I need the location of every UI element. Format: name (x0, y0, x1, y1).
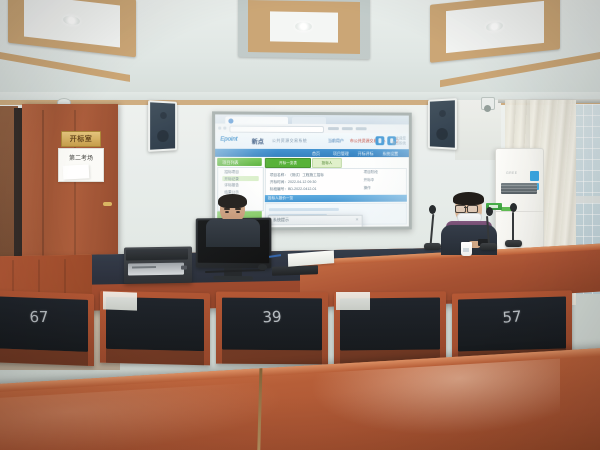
chair-seat-1[interactable]: 67 (0, 290, 94, 366)
sidebar-tree-item-1[interactable]: 开标记录 (224, 177, 239, 182)
printer (124, 246, 192, 283)
chair-number-1: 67 (0, 307, 94, 327)
dialog-title: 系统提示 (273, 218, 289, 224)
tab-bidders[interactable]: 投标人 (312, 158, 342, 168)
operator-brow-left (224, 208, 230, 210)
microphone-base (480, 243, 497, 250)
forward-icon[interactable] (223, 127, 226, 130)
toolbar-item-favorites[interactable] (328, 127, 339, 130)
ceiling-panel-left (8, 0, 136, 57)
wall-speaker-left (148, 100, 177, 152)
microphone-head (429, 205, 436, 214)
nav-item-1[interactable]: 项目管理 (333, 151, 349, 157)
printer-power-button[interactable] (181, 265, 187, 269)
info-dialog[interactable]: 系统提示 ✕ 解密成功！ 确定 (268, 215, 363, 228)
sidebar-header-label: 项目列表 (222, 159, 238, 165)
right-row-1: 开标中 (364, 178, 375, 183)
chair-shadow (0, 348, 88, 366)
door-handle[interactable] (103, 202, 112, 206)
dialog-titlebar: 系统提示 ✕ (269, 216, 362, 225)
section-bar-title: 投标人报价一览 (268, 196, 293, 201)
detail-row-2: 标段编号：BD-2022-0412-01 (270, 187, 317, 192)
ceiling-panel-center (238, 0, 370, 59)
list-item (269, 208, 339, 211)
browser-tab-2[interactable] (292, 116, 326, 123)
chair-shadow (222, 350, 322, 365)
ceiling-trim-left (0, 52, 130, 82)
ac-vent (501, 183, 537, 194)
paper-cup (461, 242, 472, 256)
door-plaque-text: 开标室 (70, 134, 93, 144)
speaker-tweeter-icon (439, 110, 446, 117)
content-tab-strip: 开标一览表 投标人 (265, 158, 365, 166)
operator-eye-left (225, 211, 229, 213)
ac-display-badge (530, 171, 539, 181)
toolbar-item-help[interactable] (356, 127, 367, 130)
ceiling (0, 0, 600, 104)
door-plaque: 开标室 (61, 131, 101, 147)
app-logo-subtitle: 公共资源交易系统 (272, 138, 307, 144)
tab-overview[interactable]: 开标一览表 (265, 158, 311, 168)
header-tag: 当前用户 (328, 138, 344, 144)
chair-shadow (106, 349, 204, 365)
meeting-room-photo: 开标室 第二考场 (0, 0, 600, 450)
app-logo-cn: 新点 (252, 137, 264, 146)
security-camera-icon (481, 97, 495, 110)
printer-lid (126, 248, 188, 260)
attendee-hair (453, 192, 484, 205)
chair-gap-light-2 (336, 292, 370, 310)
operator-eye-right (236, 211, 240, 213)
paper-sign-text: 第二考场 (59, 153, 103, 162)
nav-item-2[interactable]: 开标评标 (358, 151, 374, 157)
glasses-icon-right (467, 205, 478, 213)
wall-speaker-right (428, 98, 457, 150)
operator-torso (206, 219, 260, 247)
operator-brow-right (235, 208, 241, 210)
close-icon[interactable]: ✕ (355, 217, 358, 222)
detail-row-1: 开标时间：2022-04-12 09:30 (270, 180, 316, 185)
speaker-tweeter-icon (160, 112, 167, 119)
app-logo-text: Epoint (220, 137, 237, 143)
microphone-stem (512, 212, 514, 241)
printer-paper-tray (128, 263, 184, 276)
speaker-cone-icon (157, 130, 169, 142)
ceiling-panel-right (430, 0, 560, 63)
glasses-bridge (464, 207, 468, 208)
sidebar-tree-item-2[interactable]: 评标报告 (224, 183, 239, 188)
toolbar-item-tools[interactable] (342, 127, 353, 130)
paper-curl (63, 164, 90, 179)
right-row-2[interactable]: 操作 (364, 186, 371, 191)
operator-hair (218, 194, 247, 208)
right-column: 项目阶段 开标中 操作 (364, 168, 407, 198)
user-icon[interactable] (375, 136, 384, 145)
desk-highlight-right (310, 359, 560, 444)
ac-seam (496, 211, 543, 212)
detail-row-0: 项目名称：（测试）工程施工招标 (270, 173, 324, 178)
nav-item-0[interactable]: 首页 (312, 151, 320, 157)
nav-item-3[interactable]: 系统设置 (382, 151, 398, 157)
back-icon[interactable] (218, 127, 221, 130)
desk-highlight-left (0, 381, 280, 450)
microphone-head (510, 203, 517, 212)
app-nav-bar: 首页 项目管理 开标评标 系统设置 (215, 149, 409, 157)
microphone-head (486, 207, 493, 216)
right-row-0: 项目阶段 (364, 170, 378, 175)
paper-sign: 第二考场 (58, 148, 104, 182)
microphone-base (424, 243, 441, 250)
microphone-base (505, 240, 522, 247)
sidebar-header: 项目列表 (217, 158, 262, 166)
header-user-block[interactable]: 欢迎您 退出系统 (392, 136, 406, 146)
monitor-base (213, 276, 253, 281)
browser-tab-active[interactable] (225, 116, 288, 123)
chair-seat-3[interactable]: 39 (216, 292, 328, 365)
header-logout[interactable]: 退出系统 (392, 141, 406, 146)
tab-favicon-icon (228, 118, 233, 123)
ceiling-light-icon (295, 22, 312, 31)
ac-brand-label: GREE (506, 171, 518, 175)
mouse[interactable] (258, 264, 267, 270)
app-header: Epoint 新点 公共资源交易系统 当前用户 市公共资源交易中心（测试） 欢迎… (215, 133, 409, 151)
keyboard[interactable] (272, 265, 318, 276)
speaker-cone-icon (436, 128, 448, 140)
sidebar-tree-item-0[interactable]: 招标项目 (224, 170, 239, 175)
person-operator (204, 196, 262, 246)
chair-gap-light-1 (103, 291, 137, 310)
